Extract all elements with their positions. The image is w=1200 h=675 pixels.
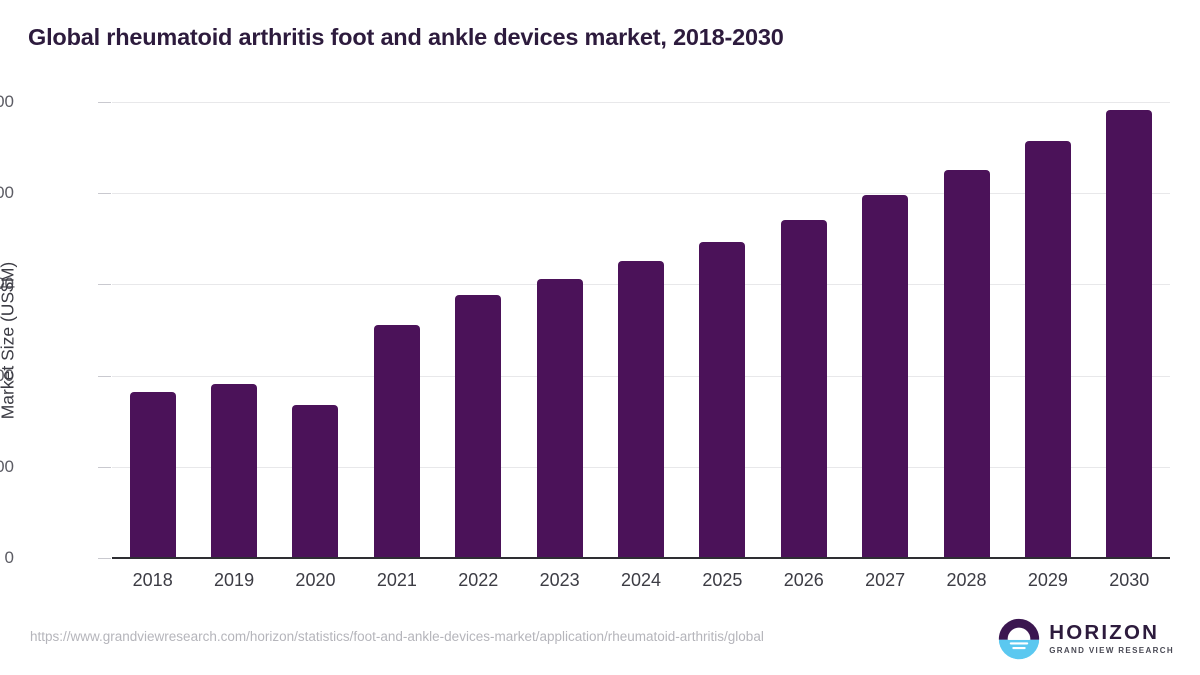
x-tick-label: 2020 [295,570,335,591]
bar[interactable] [781,220,827,558]
y-tick-mark [98,284,111,285]
gridline [112,102,1170,103]
plot-area [112,102,1170,558]
y-axis-title: Market Size (US$M) [0,131,19,551]
bar[interactable] [862,195,908,558]
footer-divider [0,605,1200,606]
x-tick-label: 2025 [702,570,742,591]
x-tick-label: 2018 [133,570,173,591]
y-tick-mark [98,376,111,377]
source-url[interactable]: https://www.grandviewresearch.com/horizo… [30,629,764,644]
bar[interactable] [211,384,257,558]
y-tick-mark [98,558,111,559]
y-tick-label: 0 [0,548,14,568]
x-axis-line [112,557,1170,559]
y-tick-label: 1000 [0,92,14,112]
bar[interactable] [1106,110,1152,558]
bar[interactable] [455,295,501,558]
bar[interactable] [618,261,664,558]
bar[interactable] [1025,141,1071,558]
bar[interactable] [292,405,338,558]
bar[interactable] [699,242,745,558]
logo-text: HORIZON GRAND VIEW RESEARCH [1049,623,1174,655]
logo-tagline: GRAND VIEW RESEARCH [1049,647,1174,655]
y-tick-mark [98,193,111,194]
x-tick-label: 2027 [865,570,905,591]
x-tick-label: 2026 [784,570,824,591]
gridline [112,193,1170,194]
x-tick-label: 2019 [214,570,254,591]
x-tick-label: 2021 [377,570,417,591]
bar[interactable] [130,392,176,558]
x-tick-label: 2022 [458,570,498,591]
x-tick-label: 2028 [947,570,987,591]
x-tick-label: 2030 [1109,570,1149,591]
horizon-logo-icon [998,618,1040,660]
logo-wordmark: HORIZON [1049,623,1174,644]
bar[interactable] [374,325,420,558]
y-tick-mark [98,467,111,468]
x-tick-label: 2023 [540,570,580,591]
chart-page: Global rheumatoid arthritis foot and ank… [0,0,1200,675]
bar[interactable] [537,279,583,558]
y-tick-mark [98,102,111,103]
page-title: Global rheumatoid arthritis foot and ank… [28,24,784,51]
x-tick-label: 2024 [621,570,661,591]
horizon-logo[interactable]: HORIZON GRAND VIEW RESEARCH [998,618,1174,660]
x-tick-label: 2029 [1028,570,1068,591]
bar[interactable] [944,170,990,559]
